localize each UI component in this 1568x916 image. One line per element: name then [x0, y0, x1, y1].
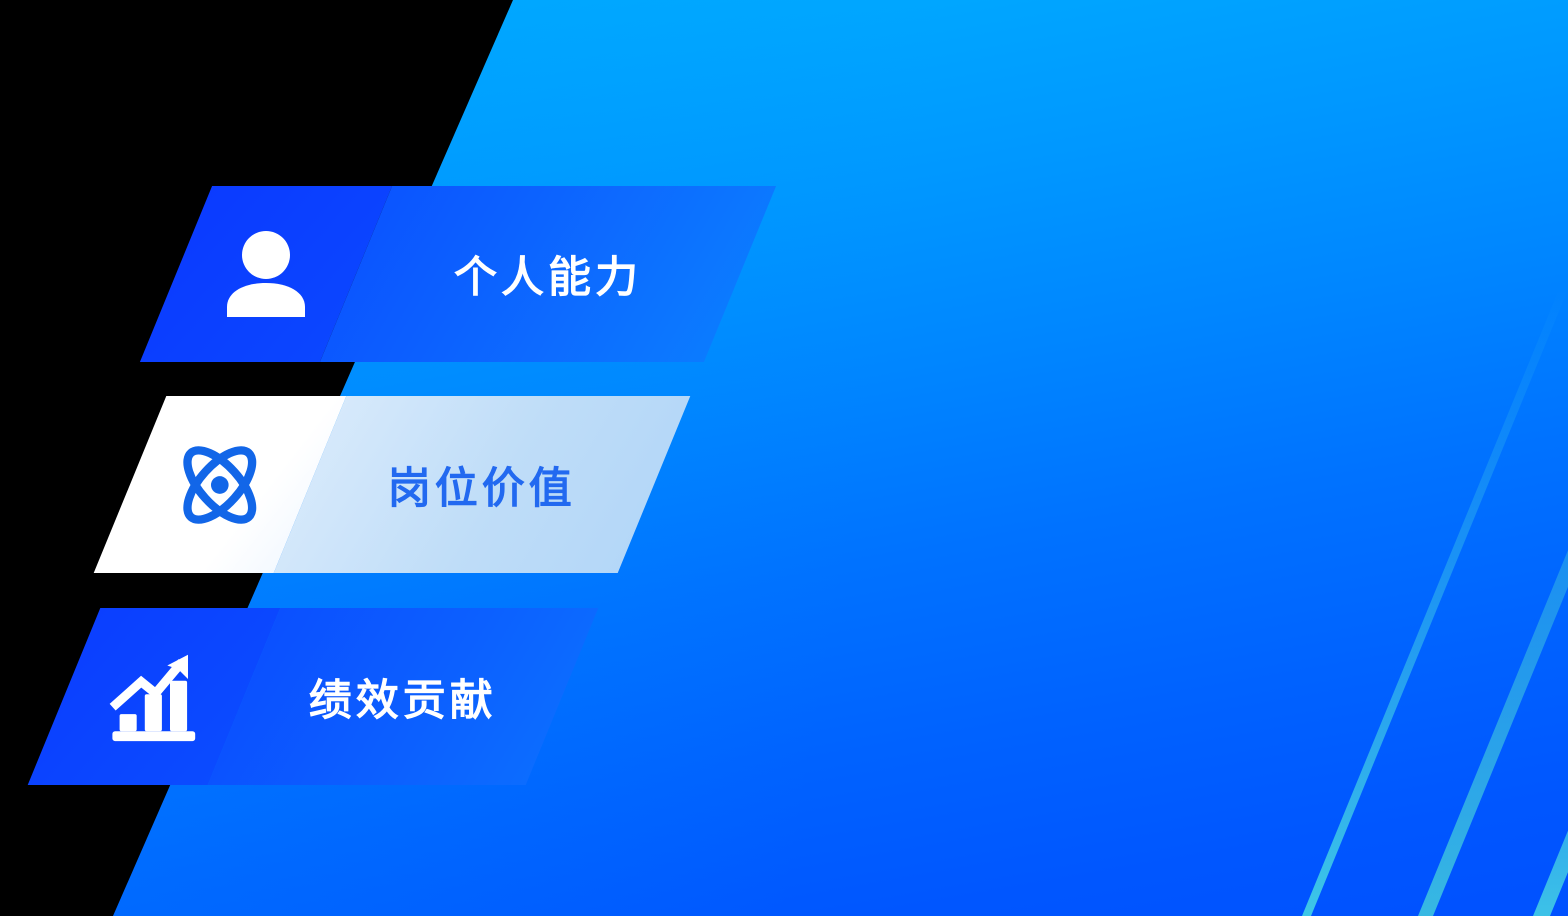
atom-icon [171, 436, 269, 534]
person-icon [225, 231, 307, 317]
item-personal-ability[interactable]: 个人能力 [140, 186, 776, 362]
label-panel-personal-ability: 个人能力 [320, 186, 776, 362]
label-panel-position-value: 岗位价值 [274, 396, 691, 573]
item-label-performance-contribution: 绩效贡献 [309, 666, 497, 728]
bar-chart-growth-icon [109, 652, 199, 742]
item-label-personal-ability: 个人能力 [454, 243, 642, 305]
item-label-position-value: 岗位价值 [388, 454, 576, 516]
item-performance-contribution[interactable]: 绩效贡献 [28, 608, 599, 785]
banner-stage: 个人能力 岗位价值 [0, 0, 1568, 916]
item-position-value[interactable]: 岗位价值 [94, 396, 691, 573]
